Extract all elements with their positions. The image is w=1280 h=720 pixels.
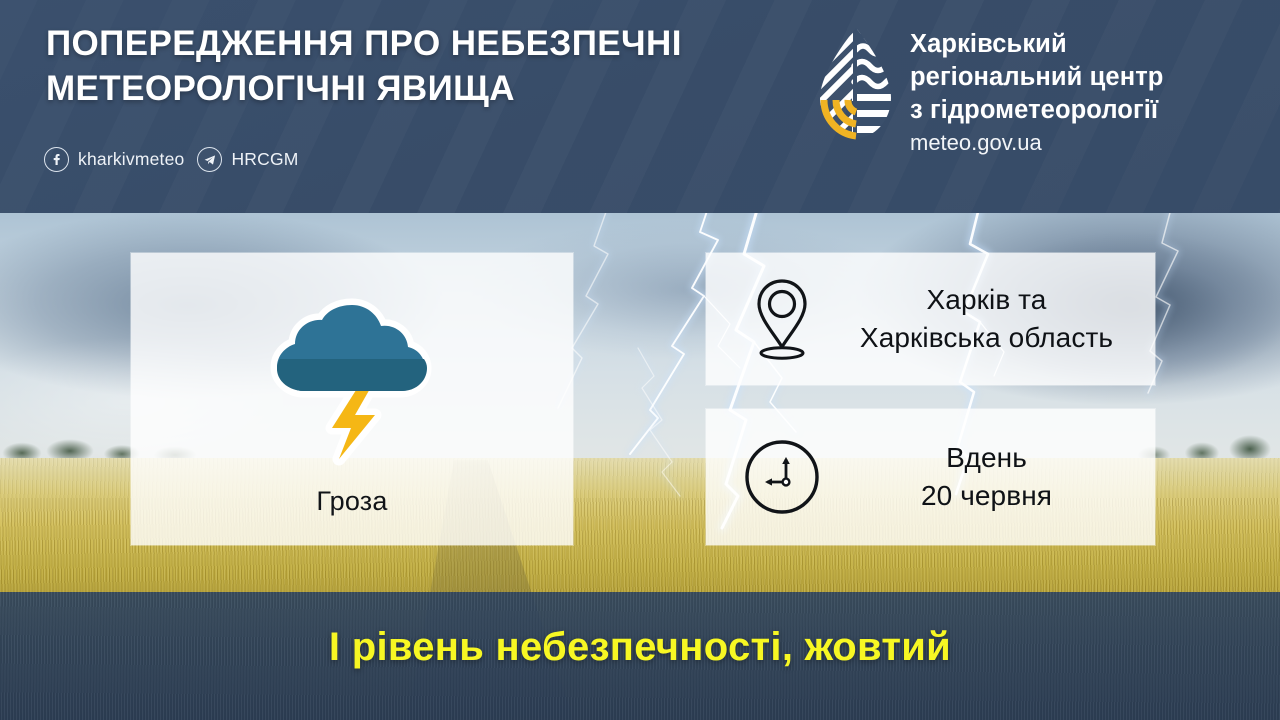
social-links: kharkivmeteo HRCGM xyxy=(44,147,299,172)
logo-line-2: регіональний центр xyxy=(910,61,1163,94)
event-label: Гроза xyxy=(131,486,573,517)
page-title: ПОПЕРЕДЖЕННЯ ПРО НЕБЕЗПЕЧНІ МЕТЕОРОЛОГІЧ… xyxy=(46,22,806,112)
social-facebook[interactable]: kharkivmeteo xyxy=(44,147,184,172)
social-telegram[interactable]: HRCGM xyxy=(197,147,298,172)
date-line-2: 20 червня xyxy=(836,477,1137,515)
location-icon-container xyxy=(728,277,836,361)
weather-warning-poster: ПОПЕРЕДЖЕННЯ ПРО НЕБЕЗПЕЧНІ МЕТЕОРОЛОГІЧ… xyxy=(0,0,1280,720)
warning-level-text: І рівень небезпечності, жовтий xyxy=(0,625,1280,670)
date-row: Вдень 20 червня xyxy=(706,409,1155,545)
date-text: Вдень 20 червня xyxy=(836,439,1137,514)
telegram-icon xyxy=(197,147,222,172)
page-title-line-1: ПОПЕРЕДЖЕННЯ ПРО НЕБЕЗПЕЧНІ xyxy=(46,24,682,63)
water-drop-logo-icon xyxy=(812,26,896,144)
facebook-icon xyxy=(44,147,69,172)
page-title-line-2: МЕТЕОРОЛОГІЧНІ ЯВИЩА xyxy=(46,67,806,112)
thunderstorm-cloud-icon xyxy=(259,283,445,469)
date-card: Вдень 20 червня xyxy=(706,409,1155,545)
date-icon-container xyxy=(728,438,836,516)
clock-icon xyxy=(743,438,821,516)
event-card: Гроза xyxy=(131,253,573,545)
social-telegram-label: HRCGM xyxy=(231,149,298,170)
social-facebook-label: kharkivmeteo xyxy=(78,149,184,170)
location-card: Харків та Харківська область xyxy=(706,253,1155,385)
location-row: Харків та Харківська область xyxy=(706,253,1155,385)
header-bar: ПОПЕРЕДЖЕННЯ ПРО НЕБЕЗПЕЧНІ МЕТЕОРОЛОГІЧ… xyxy=(0,0,1280,213)
logo-line-1: Харківський xyxy=(910,28,1163,61)
location-line-1: Харків та xyxy=(836,281,1137,319)
logo-website-url[interactable]: meteo.gov.ua xyxy=(910,130,1163,157)
location-line-2: Харківська область xyxy=(836,319,1137,357)
date-line-1: Вдень xyxy=(836,439,1137,477)
organization-logo: Харківський регіональний центр з гідроме… xyxy=(812,26,1163,157)
logo-text-block: Харківський регіональний центр з гідроме… xyxy=(910,26,1163,157)
logo-line-3: з гідрометеорології xyxy=(910,94,1163,127)
map-pin-icon xyxy=(751,277,813,361)
location-text: Харків та Харківська область xyxy=(836,281,1137,356)
event-icon-container xyxy=(131,281,573,471)
